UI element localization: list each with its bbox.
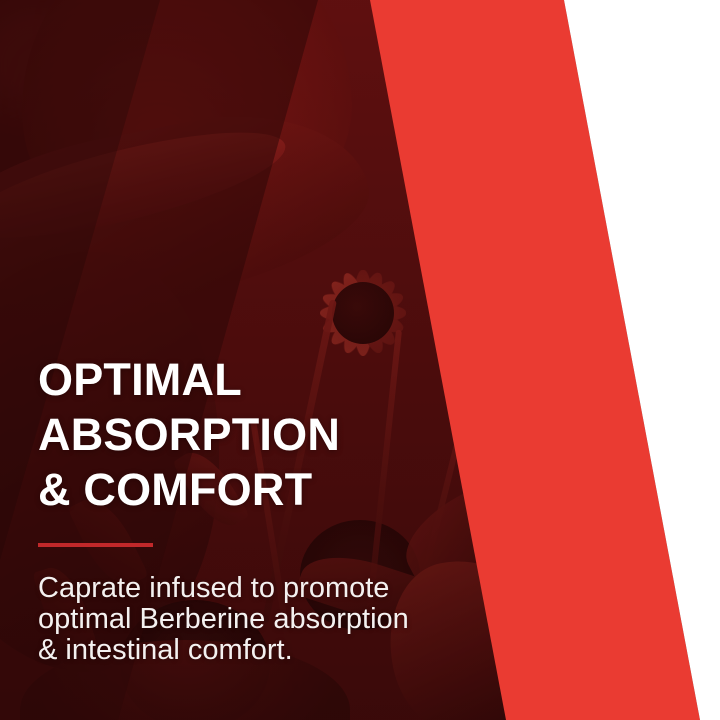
headline-line-3: & COMFORT: [38, 462, 468, 517]
headline-line-2: ABSORPTION: [38, 407, 468, 462]
body-line-3: & intestinal comfort.: [38, 635, 468, 666]
product-feature-banner: OPTIMAL ABSORPTION & COMFORT Caprate inf…: [0, 0, 720, 720]
text-content: OPTIMAL ABSORPTION & COMFORT Caprate inf…: [38, 352, 468, 666]
headline-line-1: OPTIMAL: [38, 352, 468, 407]
headline: OPTIMAL ABSORPTION & COMFORT: [38, 352, 468, 517]
body-line-2: optimal Berberine absorption: [38, 604, 468, 635]
body-copy: Caprate infused to promote optimal Berbe…: [38, 573, 468, 666]
accent-divider: [38, 543, 153, 547]
body-line-1: Caprate infused to promote: [38, 573, 468, 604]
